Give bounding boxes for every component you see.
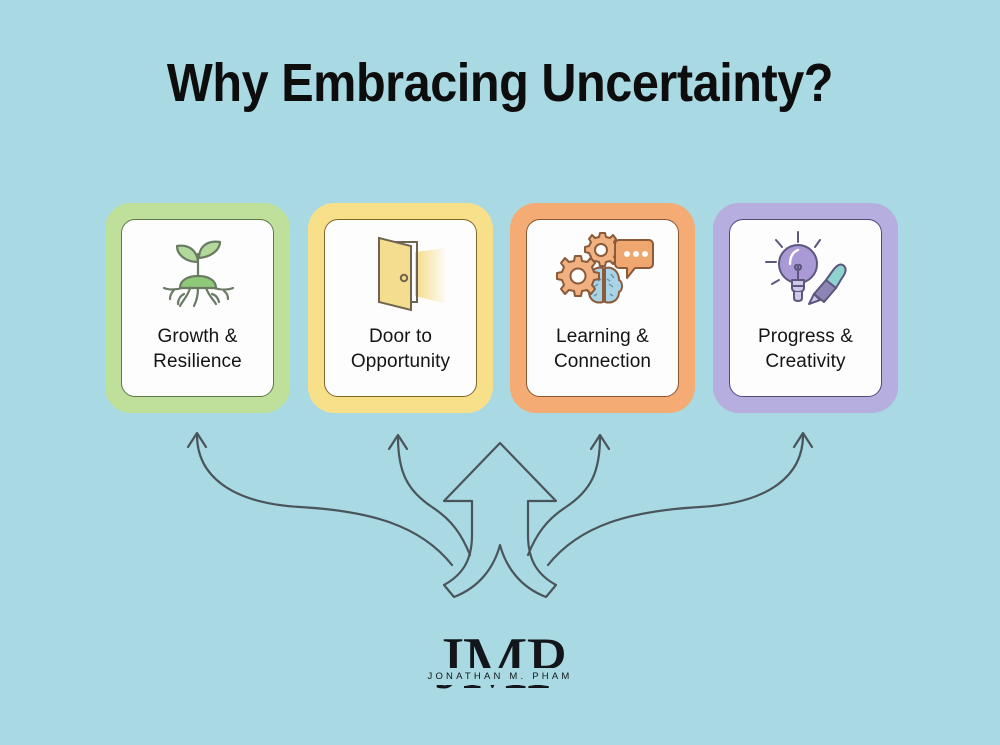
card-inner: Door to Opportunity (324, 219, 477, 397)
center-forked-arrow (444, 443, 556, 597)
gears-brain-speech-bubble-icon (527, 220, 678, 324)
card-growth-resilience[interactable]: Growth & Resilience (105, 203, 290, 413)
card-door-to-opportunity[interactable]: Door to Opportunity (308, 203, 493, 413)
lightbulb-paintbrush-icon (730, 220, 881, 324)
card-label: Growth & Resilience (149, 324, 246, 375)
branch-curve-1 (197, 435, 452, 565)
card-label: Progress & Creativity (754, 324, 857, 375)
card-label-line1: Door to (351, 324, 450, 349)
card-label-line2: Resilience (153, 349, 242, 374)
card-label: Learning & Connection (550, 324, 655, 375)
card-label-line1: Growth & (153, 324, 242, 349)
card-label-line1: Progress & (758, 324, 853, 349)
poster-canvas: Why Embracing Uncertainty? (0, 0, 1000, 745)
card-inner: Learning & Connection (526, 219, 679, 397)
card-label-line2: Connection (554, 349, 651, 374)
branch-curve-4 (548, 435, 803, 565)
logo-mark: JMP JONATHAN M. PHAM (405, 626, 595, 710)
card-progress-creativity[interactable]: Progress & Creativity (713, 203, 898, 413)
logo-name-band: JONATHAN M. PHAM (413, 668, 587, 685)
card-inner: Growth & Resilience (121, 219, 274, 397)
branching-arrow-diagram (0, 415, 1000, 615)
card-label-line2: Opportunity (351, 349, 450, 374)
card-row: Growth & Resilience (0, 203, 1000, 415)
card-label: Door to Opportunity (347, 324, 454, 375)
card-learning-connection[interactable]: Learning & Connection (510, 203, 695, 413)
card-label-line1: Learning & (554, 324, 651, 349)
open-door-icon (325, 220, 476, 324)
brand-logo: JMP JONATHAN M. PHAM (0, 626, 1000, 710)
branch-curve-2 (398, 437, 470, 555)
page-title: Why Embracing Uncertainty? (50, 52, 950, 114)
sprout-roots-icon (122, 220, 273, 324)
logo-full-name: JONATHAN M. PHAM (428, 671, 573, 682)
logo-monogram: JMP (405, 626, 595, 704)
branch-curve-3 (528, 437, 600, 555)
card-inner: Progress & Creativity (729, 219, 882, 397)
card-label-line2: Creativity (758, 349, 853, 374)
